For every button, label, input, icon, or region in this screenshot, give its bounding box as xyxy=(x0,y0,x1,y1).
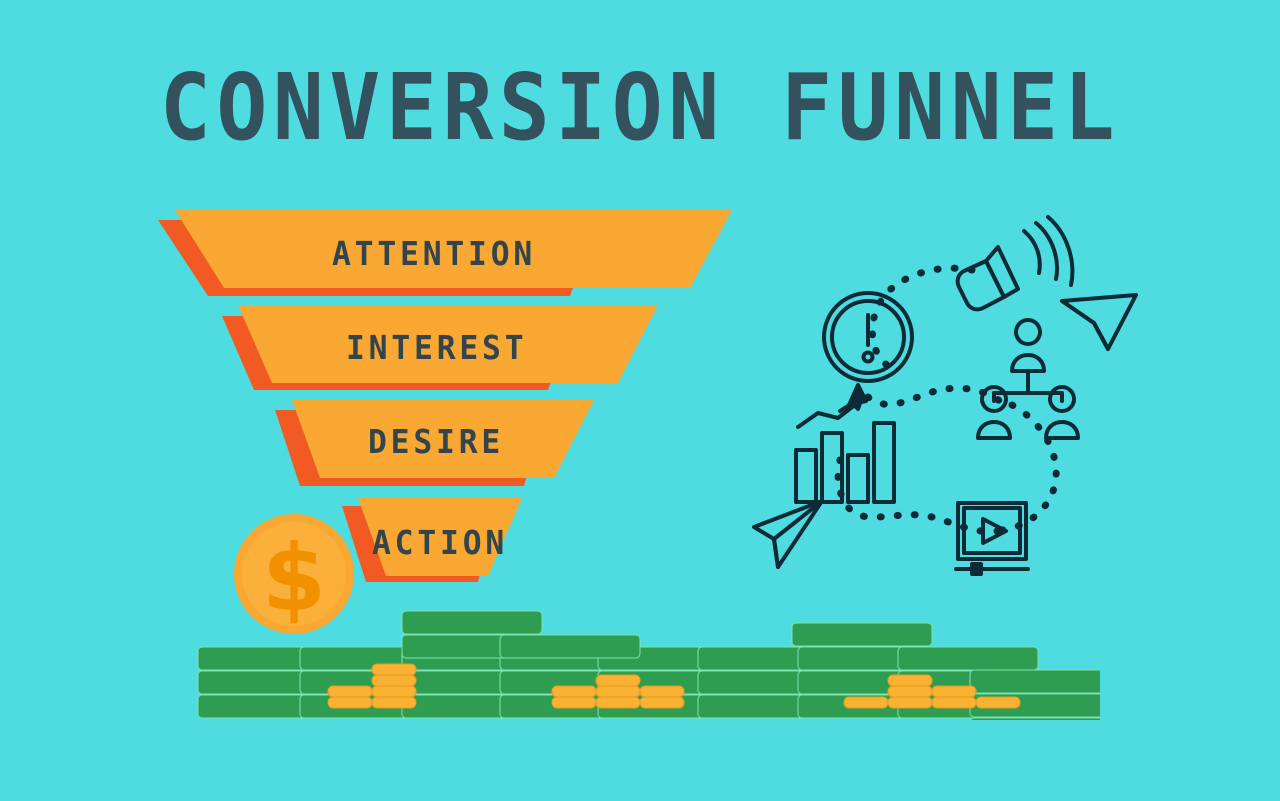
funnel-label-action: ACTION xyxy=(372,523,508,562)
funnel-label-attention: ATTENTION xyxy=(332,234,536,273)
paper-plane-icon xyxy=(754,501,822,567)
megaphone-icon xyxy=(958,217,1073,309)
paper-plane-icon xyxy=(1062,295,1136,349)
bill xyxy=(402,611,542,634)
poster-canvas: CONVERSION FUNNEL ATTE xyxy=(0,0,1280,801)
alert-circle-icon xyxy=(824,293,912,381)
money-stacks xyxy=(180,600,1100,720)
funnel-label-desire: DESIRE xyxy=(368,422,504,461)
people-network-icon xyxy=(978,320,1078,438)
page-title: CONVERSION FUNNEL xyxy=(51,62,1229,154)
funnel-label-interest: INTEREST xyxy=(346,328,527,367)
bill xyxy=(792,623,932,646)
bill-bundle-row xyxy=(198,647,1100,720)
growth-chart-icon xyxy=(796,385,894,502)
dotted-path xyxy=(838,268,1056,531)
coin-pile xyxy=(976,697,1020,708)
video-player-icon xyxy=(956,503,1028,574)
marketing-icon-cluster xyxy=(740,215,1140,585)
bill xyxy=(500,635,640,658)
